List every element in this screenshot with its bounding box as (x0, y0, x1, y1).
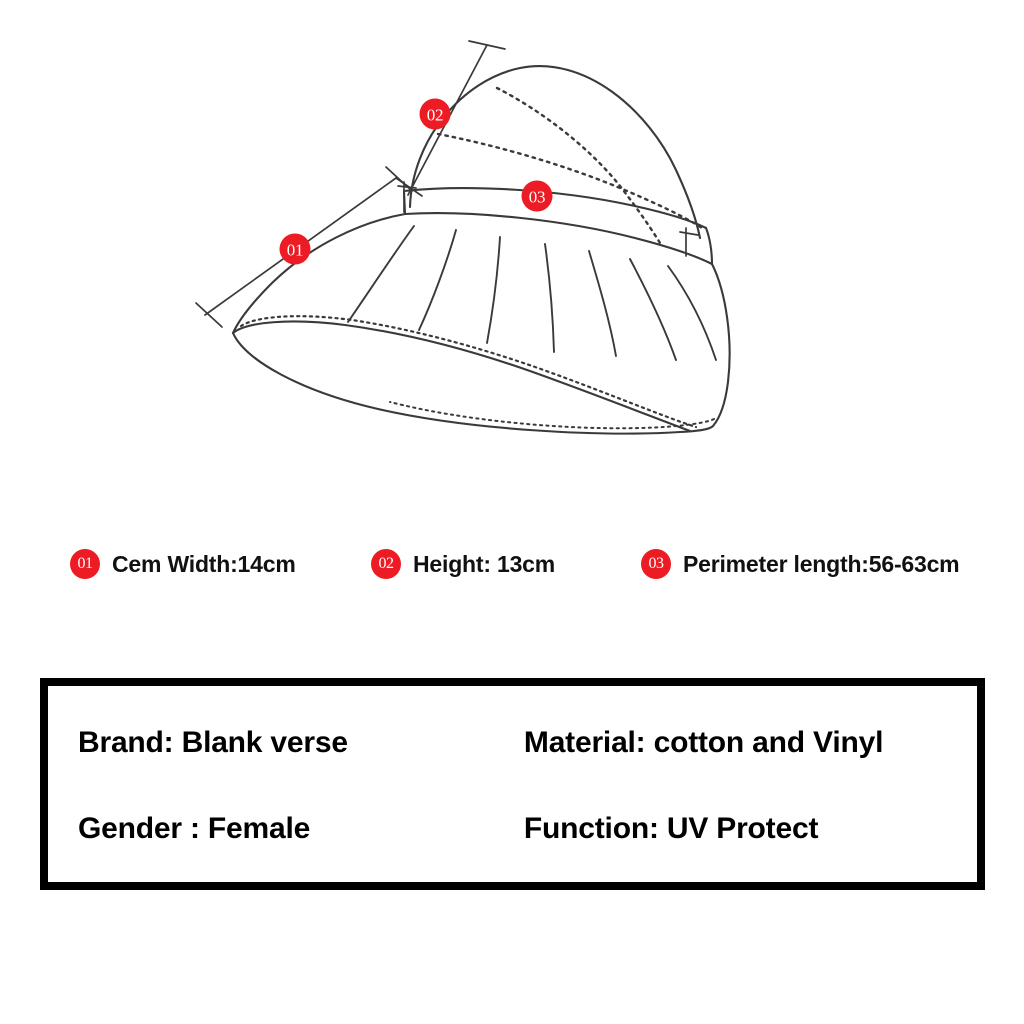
spec-grid: Brand: Blank verse Material: cotton and … (48, 686, 977, 882)
legend-label-height: Height: 13cm (413, 551, 555, 578)
hat-brim-stitch-dotted (241, 316, 696, 427)
legend-label-perimeter: Perimeter length:56-63cm (683, 551, 959, 578)
spec-function: Function: UV Protect (524, 812, 818, 846)
measurement-legend: 01 Cem Width:14cm 02 Height: 13cm 03 Per… (0, 536, 1024, 592)
legend-item-height: 02 Height: 13cm (371, 536, 555, 592)
callout-badge-02: 02 (420, 99, 451, 130)
legend-badge-03: 03 (641, 549, 671, 579)
hat-brim-inner-stitch-dotted (390, 402, 714, 428)
spec-material: Material: cotton and Vinyl (524, 726, 883, 760)
legend-badge-01: 01 (70, 549, 100, 579)
legend-label-brim-width: Cem Width:14cm (112, 551, 296, 578)
legend-item-perimeter: 03 Perimeter length:56-63cm (641, 536, 959, 592)
callout-badge-03-label: 03 (529, 188, 545, 207)
legend-item-brim-width: 01 Cem Width:14cm (70, 536, 296, 592)
spec-brand: Brand: Blank verse (78, 726, 348, 760)
callout-badge-01-label: 01 (287, 241, 303, 260)
callout-badge-03: 03 (522, 181, 553, 212)
product-spec-box: Brand: Blank verse Material: cotton and … (40, 678, 985, 890)
callout-badge-01: 01 (280, 234, 311, 265)
spec-gender: Gender : Female (78, 812, 310, 846)
spec-cell-brand: Brand: Blank verse (48, 700, 494, 786)
hat-brim-edge (233, 322, 713, 434)
dimension-line-02 (396, 41, 505, 196)
spec-cell-gender: Gender : Female (48, 786, 494, 872)
callout-badge-02-label: 02 (427, 106, 443, 125)
legend-badge-02: 02 (371, 549, 401, 579)
product-illustration: 01 02 03 (0, 0, 1024, 520)
hat-crown-seam-dotted (438, 88, 702, 243)
spec-cell-material: Material: cotton and Vinyl (494, 700, 977, 786)
spec-cell-function: Function: UV Protect (494, 786, 977, 872)
